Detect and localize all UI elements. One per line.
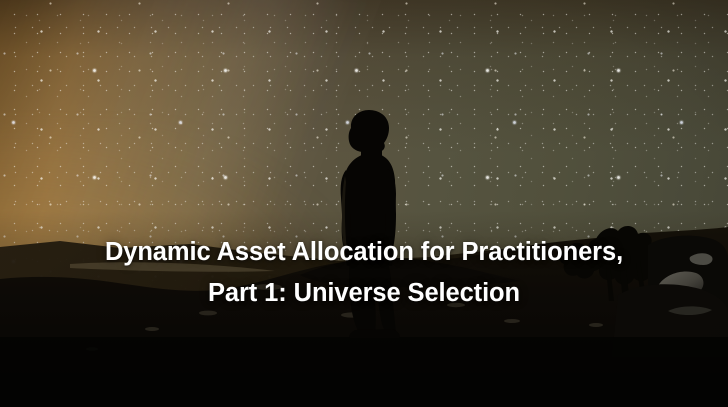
standing-person-silhouette: [0, 0, 728, 407]
banner-title-line-1: Dynamic Asset Allocation for Practitione…: [24, 232, 704, 273]
banner-title-line-2: Part 1: Universe Selection: [24, 273, 704, 314]
hero-banner: Dynamic Asset Allocation for Practitione…: [0, 0, 728, 407]
banner-title: Dynamic Asset Allocation for Practitione…: [0, 232, 728, 314]
